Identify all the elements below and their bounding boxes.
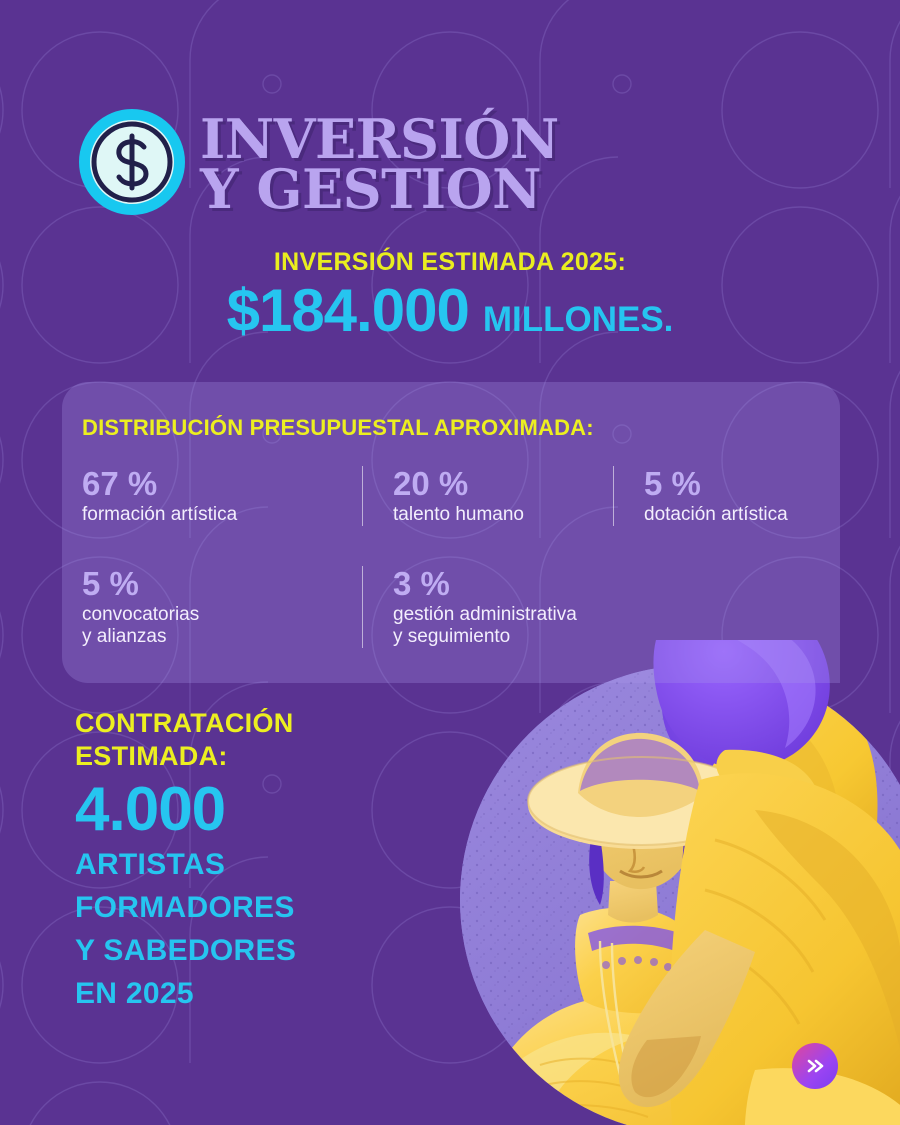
title-line-2: Y GESTION <box>200 164 559 214</box>
distribution-percent: 5 % <box>82 566 362 602</box>
distribution-label: talento humano <box>393 504 613 526</box>
distribution-item-talento: 20 % talento humano <box>363 466 613 526</box>
distribution-row-1: 67 % formación artística 20 % talento hu… <box>82 466 844 526</box>
page-title: INVERSIÓN Y GESTION <box>200 114 559 214</box>
dollar-coin-icon <box>78 108 186 216</box>
distribution-row-2: 5 % convocatorias y alianzas 3 % gestión… <box>82 566 693 648</box>
distribution-label: dotación artística <box>644 504 844 526</box>
contract-line-1: ARTISTAS <box>75 843 296 886</box>
contract-line-2: FORMADORES <box>75 886 296 929</box>
investment-headline: INVERSIÓN ESTIMADA 2025: $184.000 MILLON… <box>0 248 900 341</box>
brand-badge[interactable] <box>792 1043 838 1089</box>
duotone-photo-extension <box>605 640 900 1125</box>
distribution-percent: 5 % <box>644 466 844 502</box>
distribution-label: convocatorias y alianzas <box>82 604 362 648</box>
investment-amount-row: $184.000 MILLONES. <box>0 281 900 341</box>
contract-label-line-2: ESTIMADA: <box>75 740 296 773</box>
distribution-label: formación artística <box>82 504 362 526</box>
distribution-title: DISTRIBUCIÓN PRESUPUESTAL APROXIMADA: <box>82 415 594 441</box>
distribution-item-gestion: 3 % gestión administrativa y seguimiento <box>363 566 693 648</box>
distribution-item-formacion: 67 % formación artística <box>82 466 362 526</box>
distribution-item-convocatorias: 5 % convocatorias y alianzas <box>82 566 362 648</box>
distribution-item-dotacion: 5 % dotación artística <box>614 466 844 526</box>
distribution-label: gestión administrativa y seguimiento <box>393 604 693 648</box>
budget-distribution-panel: DISTRIBUCIÓN PRESUPUESTAL APROXIMADA: 67… <box>62 382 840 683</box>
contract-block: CONTRATACIÓN ESTIMADA: 4.000 ARTISTAS FO… <box>75 707 296 1015</box>
investment-label: INVERSIÓN ESTIMADA 2025: <box>0 248 900 277</box>
infographic-poster: INVERSIÓN Y GESTION INVERSIÓN ESTIMADA 2… <box>0 0 900 1125</box>
distribution-percent: 3 % <box>393 566 693 602</box>
distribution-percent: 20 % <box>393 466 613 502</box>
investment-amount: $184.000 <box>227 281 469 341</box>
double-chevron-right-icon <box>802 1053 828 1079</box>
distribution-percent: 67 % <box>82 466 362 502</box>
contract-line-4: EN 2025 <box>75 972 296 1015</box>
contract-number: 4.000 <box>75 777 296 843</box>
investment-unit: MILLONES. <box>483 302 674 337</box>
contract-label-line-1: CONTRATACIÓN <box>75 707 296 740</box>
contract-line-3: Y SABEDORES <box>75 929 296 972</box>
photo-right-extension <box>605 640 900 1125</box>
